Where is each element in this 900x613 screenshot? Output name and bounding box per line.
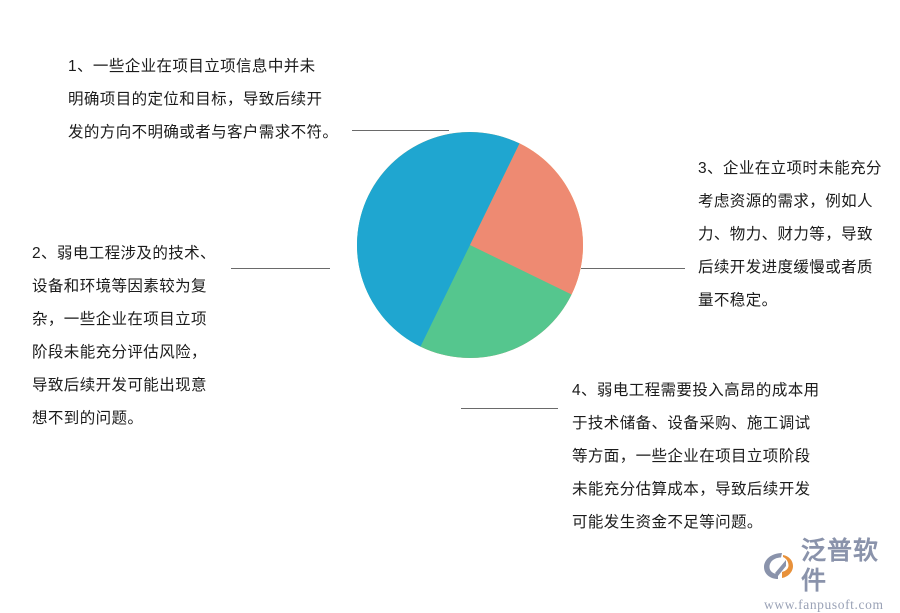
infographic-canvas: 1、一些企业在项目立项信息中并未 明确项目的定位和目标，导致后续开 发的方向不明… [0,0,900,600]
text-block-2: 2、弱电工程涉及的技术、 设备和环境等因素较为复 杂，一些企业在项目立项 阶段未… [32,237,232,435]
pinwheel-svg [290,78,620,453]
logo-website-url: www.fanpusoft.com [764,597,884,613]
brand-logo: 泛普软件 www.fanpusoft.com [762,536,894,594]
logo-brand-name: 泛普软件 [801,536,894,596]
text-block-3: 3、企业在立项时未能充分 考虑资源的需求，例如人 力、物力、财力等，导致 后续开… [698,152,893,317]
pinwheel-graphic [290,78,620,453]
logo-row: 泛普软件 [762,536,894,596]
fanpu-logo-icon [762,551,796,581]
